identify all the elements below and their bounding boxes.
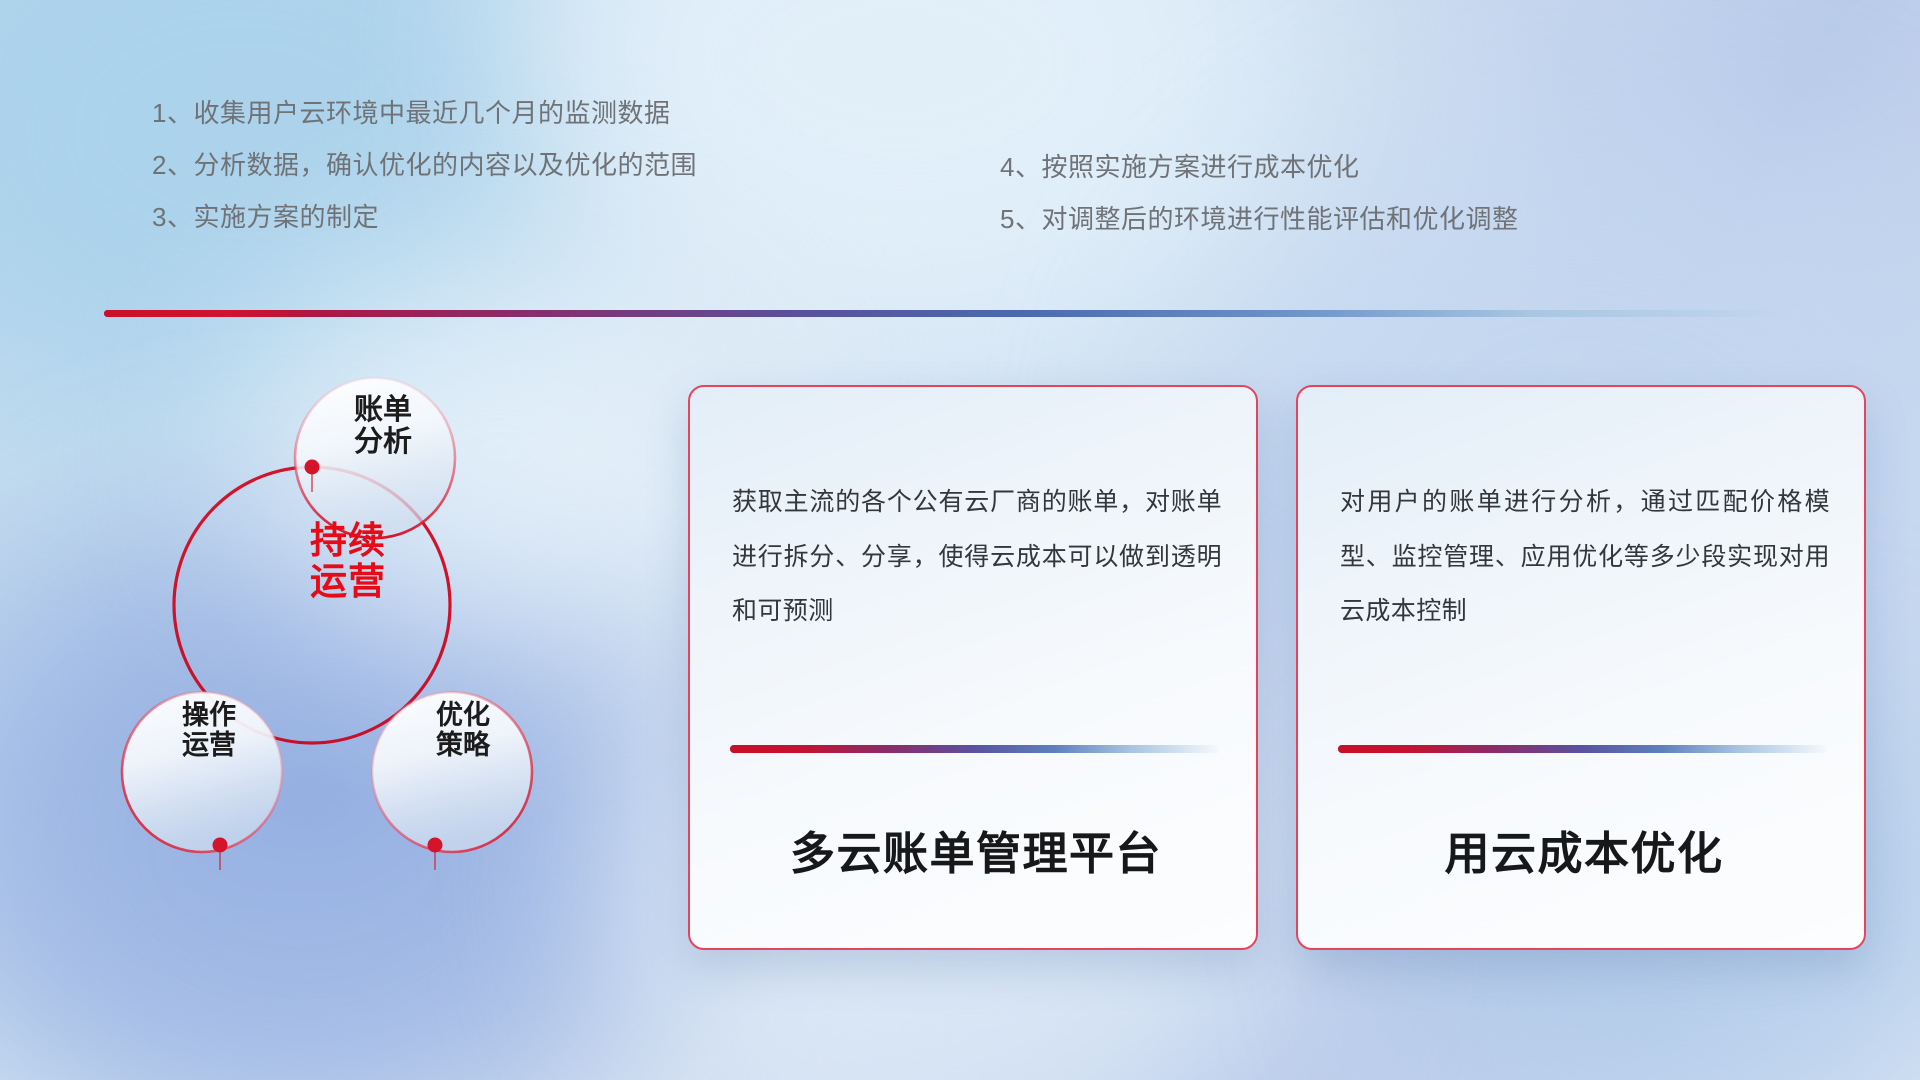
- venn-label-bill-analysis: 账单 分析: [298, 394, 468, 459]
- steps-right-column: 4、按照实施方案进行成本优化 5、对调整后的环境进行性能评估和优化调整: [1000, 154, 1518, 232]
- card-title: 多云账单管理平台: [730, 817, 1222, 882]
- section-divider-rule: [104, 310, 1804, 317]
- slide-canvas: 1、收集用户云环境中最近几个月的监测数据 2、分析数据，确认优化的内容以及优化的…: [0, 0, 1920, 1080]
- step-item-1: 1、收集用户云环境中最近几个月的监测数据: [152, 100, 697, 126]
- step-item-4: 4、按照实施方案进行成本优化: [1000, 154, 1518, 180]
- venn-label-center: 持续 运营: [238, 520, 458, 603]
- venn-label-operations: 操作 运营: [124, 700, 294, 760]
- card-body-text: 对用户的账单进行分析，通过匹配价格模型、监控管理、应用优化等多少段实现对用云成本…: [1340, 475, 1830, 639]
- card-title: 用云成本优化: [1338, 817, 1830, 882]
- card-body-text: 获取主流的各个公有云厂商的账单，对账单进行拆分、分享，使得云成本可以做到透明和可…: [732, 475, 1222, 639]
- card-divider: [1338, 745, 1828, 753]
- card-divider: [730, 745, 1220, 753]
- venn-node-bottom-left: [213, 838, 228, 853]
- card-multi-cloud-billing-platform[interactable]: 获取主流的各个公有云厂商的账单，对账单进行拆分、分享，使得云成本可以做到透明和可…: [688, 385, 1258, 950]
- venn-diagram: 账单 分析 操作 运营 优化 策略 持续 运营: [90, 340, 570, 960]
- step-item-3: 3、实施方案的制定: [152, 204, 697, 230]
- venn-node-bottom-right: [428, 838, 443, 853]
- step-item-5: 5、对调整后的环境进行性能评估和优化调整: [1000, 206, 1518, 232]
- card-cloud-cost-optimization[interactable]: 对用户的账单进行分析，通过匹配价格模型、监控管理、应用优化等多少段实现对用云成本…: [1296, 385, 1866, 950]
- steps-left-column: 1、收集用户云环境中最近几个月的监测数据 2、分析数据，确认优化的内容以及优化的…: [152, 100, 697, 230]
- step-item-2: 2、分析数据，确认优化的内容以及优化的范围: [152, 152, 697, 178]
- venn-node-top: [305, 460, 320, 475]
- venn-label-optimize-strategy: 优化 策略: [378, 700, 548, 760]
